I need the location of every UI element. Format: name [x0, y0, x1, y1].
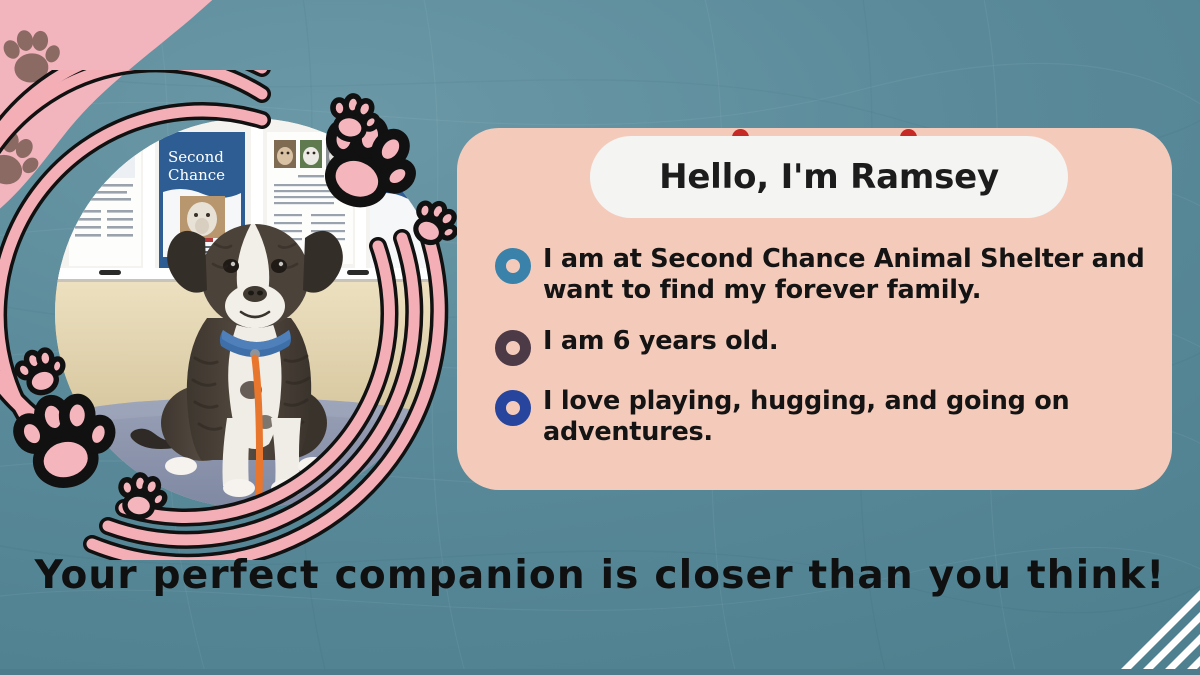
page-title: Hello, I'm Ramsey: [659, 157, 999, 197]
svg-text:Chance: Chance: [168, 166, 225, 184]
list-item: I love playing, hugging, and going on ad…: [495, 386, 1155, 448]
list-item-text: I love playing, hugging, and going on ad…: [543, 386, 1155, 448]
slide-canvas: Second Chance Animal Ce: [0, 0, 1200, 675]
svg-text:C: C: [381, 142, 392, 158]
svg-text:Second: Second: [168, 148, 224, 166]
list-item: I am at Second Chance Animal Shelter and…: [495, 244, 1155, 306]
dog-photo: Second Chance Animal Ce: [55, 118, 445, 508]
bullet-ring-icon: [495, 390, 531, 426]
list-item-text: I am 6 years old.: [543, 326, 778, 357]
bottom-edge-strip: [0, 669, 1200, 675]
title-pill: Hello, I'm Ramsey: [590, 136, 1068, 218]
bullet-ring-icon: [495, 248, 531, 284]
dog-photo-illustration: Second Chance Animal Ce: [55, 118, 445, 508]
list-item-text: I am at Second Chance Animal Shelter and…: [543, 244, 1155, 306]
svg-text:A: A: [376, 250, 385, 261]
tagline: Your perfect companion is closer than yo…: [0, 553, 1200, 598]
fact-list: I am at Second Chance Animal Shelter and…: [495, 244, 1155, 448]
bullet-ring-icon: [495, 330, 531, 366]
list-item: I am 6 years old.: [495, 326, 1155, 366]
info-card: Hello, I'm Ramsey I am at Second Chance …: [457, 128, 1172, 490]
